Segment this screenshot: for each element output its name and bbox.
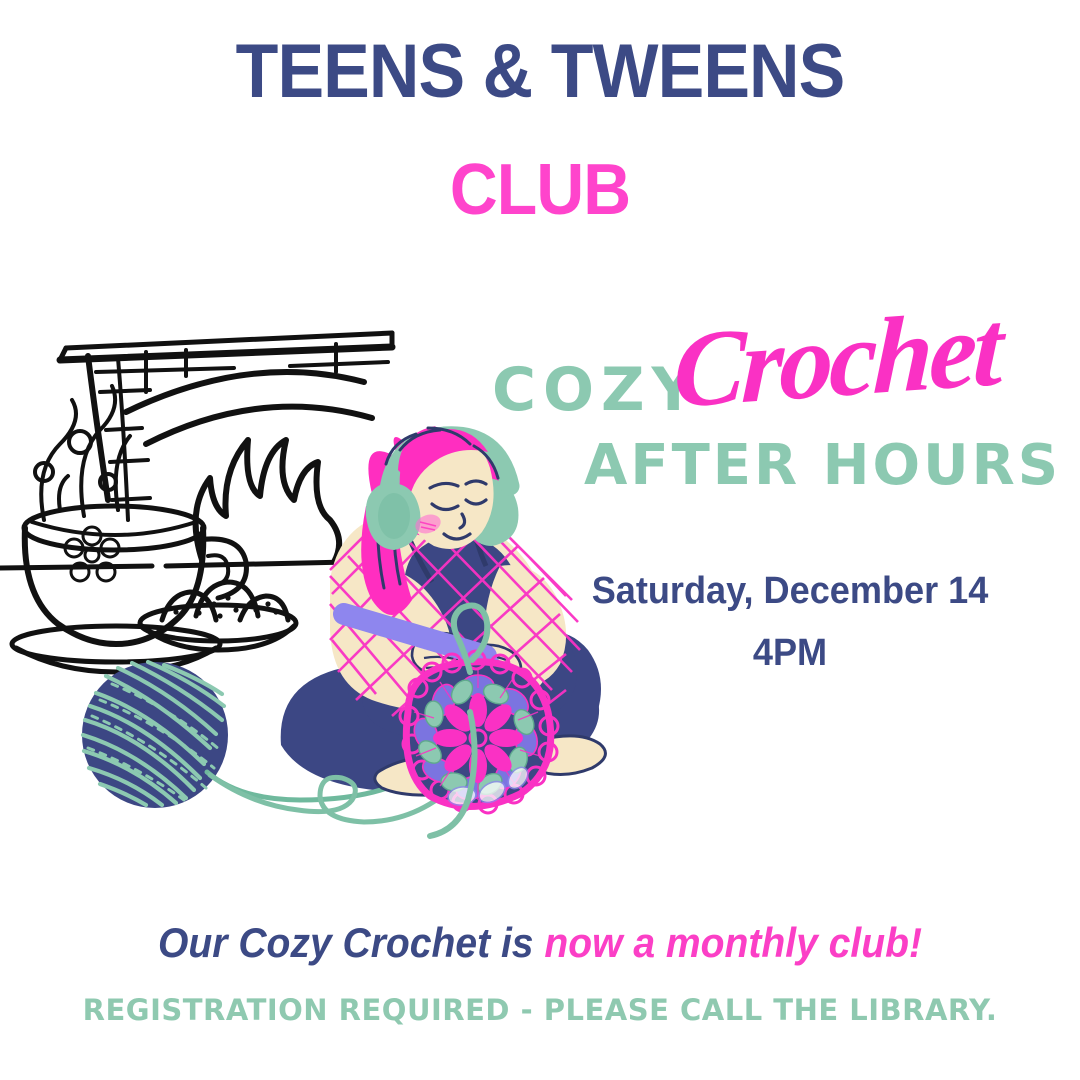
- plate-of-cookies-line-art: [140, 582, 296, 650]
- flame-line-art: [196, 440, 340, 562]
- headline-cozy: COZY: [492, 360, 702, 420]
- registration-note: REGISTRATION REQUIRED - PLEASE CALL THE …: [0, 996, 1080, 1025]
- steam-swirls-line-art: [35, 386, 130, 520]
- footer-headline-navy: Our Cozy Crochet is: [158, 919, 544, 966]
- page-title-line1: TEENS & TWEENS: [43, 34, 1037, 110]
- headline-after-hours: AFTER HOURS: [584, 438, 1061, 494]
- event-date: Saturday, December 14: [591, 572, 990, 610]
- page-title-line2: CLUB: [43, 154, 1037, 226]
- event-time: 4PM: [591, 634, 990, 672]
- footer-headline-pink: now a monthly club!: [544, 919, 922, 966]
- footer-headline: Our Cozy Crochet is now a monthly club!: [38, 922, 1042, 964]
- headline-crochet: Crochet: [672, 295, 1001, 426]
- poster-canvas: TEENS & TWEENS CLUB COZY Crochet AFTER H…: [0, 0, 1080, 1080]
